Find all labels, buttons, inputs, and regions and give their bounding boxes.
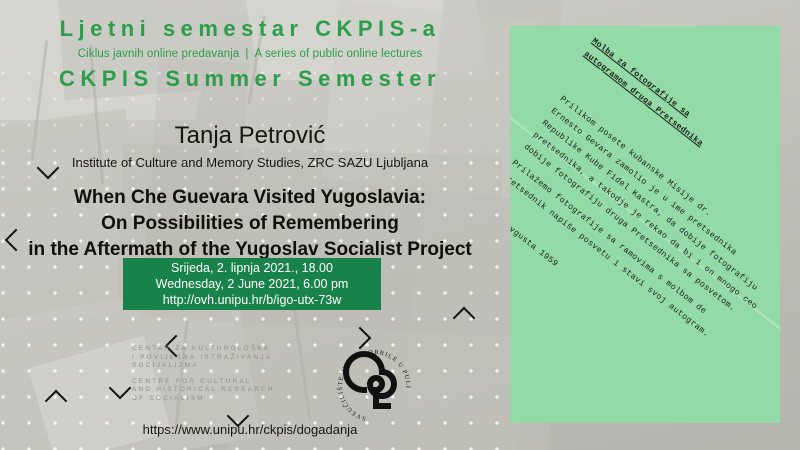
ckpis-logo-block: CENTAR ZA KULTUROLOŠKA I POVIJESNA ISTRA… — [132, 345, 312, 404]
lecture-title-line-1: When Che Guevara Visited Yugoslavia: — [0, 185, 500, 211]
ckpis-name-en-1: CENTRE FOR CULTURAL — [132, 378, 312, 387]
speaker-block: Tanja Petrović Institute of Culture and … — [0, 120, 500, 174]
lecture-title: When Che Guevara Visited Yugoslavia: On … — [0, 185, 500, 263]
header-subtitle-hr: Ciklus javnih online predavanja — [78, 48, 240, 60]
speaker-name: Tanja Petrović — [0, 120, 500, 152]
archival-document-panel: Molba za fotografije sa autogramom druga… — [510, 26, 780, 423]
header-title-en: CKPIS Summer Semester — [0, 64, 500, 94]
poster-header: Ljetni semestar CKPIS-a Ciklus javnih on… — [0, 14, 500, 94]
footer-url[interactable]: https://www.unipu.hr/ckpis/dogadanja — [0, 422, 500, 437]
header-subtitle-en: A series of public online lectures — [255, 48, 423, 60]
ckpis-name-hr-2: I POVIJESNA ISTRAŽIVANJA — [132, 354, 312, 363]
header-title-hr: Ljetni semestar CKPIS-a — [0, 14, 500, 44]
header-subtitle-separator: | — [239, 48, 254, 60]
document-heading-line-1: Molba za fotografije sa — [589, 36, 692, 120]
ckpis-name-hr-1: CENTAR ZA KULTUROLOŠKA — [132, 345, 312, 354]
event-join-link[interactable]: http://ovh.unipu.hr/b/igo-utx-73w — [123, 292, 381, 308]
event-date-en: Wednesday, 2 June 2021, 6.00 pm — [123, 276, 381, 292]
lecture-title-line-2: On Possibilities of Remembering — [0, 211, 500, 237]
event-date-hr: Srijeda, 2. lipnja 2021., 18.00 — [123, 260, 381, 276]
ckpis-name-en-2: AND HISTORICAL RESEARCH — [132, 386, 312, 395]
university-logo: SVEUČILIŠTE JURJA DOBRILE U PULI — [336, 348, 412, 424]
poster-canvas: Ljetni semestar CKPIS-a Ciklus javnih on… — [0, 0, 800, 450]
speaker-affiliation: Institute of Culture and Memory Studies,… — [0, 152, 500, 174]
header-subtitle: Ciklus javnih online predavanja|A series… — [0, 44, 500, 64]
event-info-box: Srijeda, 2. lipnja 2021., 18.00 Wednesda… — [123, 258, 381, 310]
spiral-icon: SVEUČILIŠTE JURJA DOBRILE U PULI — [336, 348, 412, 424]
ckpis-name-en-3: OF SOCIALISM — [132, 395, 312, 404]
ckpis-name-hr-3: SOCIJALIZMA — [132, 362, 312, 371]
